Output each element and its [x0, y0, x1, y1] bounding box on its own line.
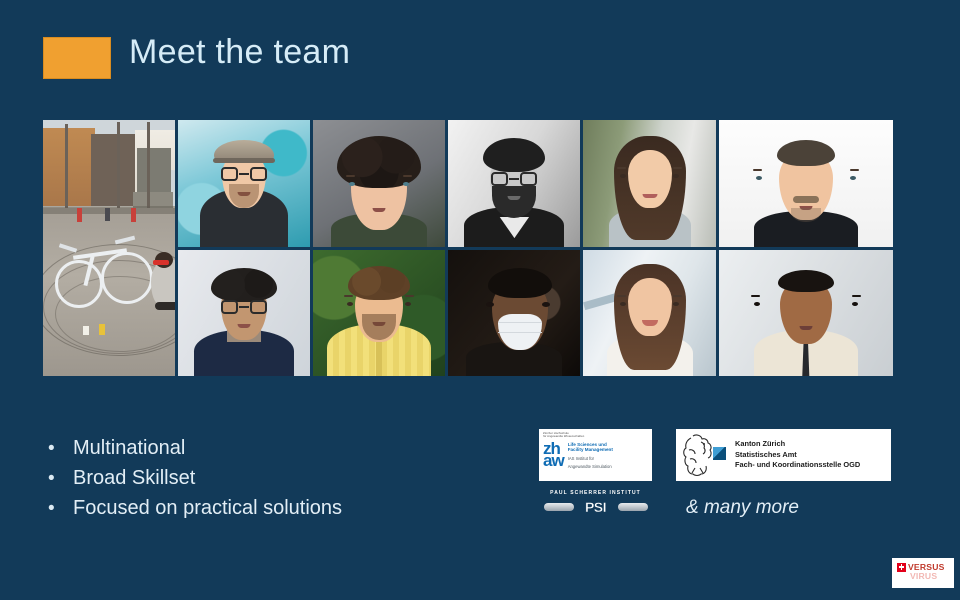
psi-institute-name: PAUL SCHERRER INSTITUT	[539, 487, 652, 496]
kanton-line-1: Kanton Zürich	[735, 439, 860, 450]
slide-canvas: Meet the team	[0, 0, 960, 600]
virus-wordmark: VIRUS	[910, 571, 949, 581]
bullet-marker: •	[43, 434, 73, 463]
psi-logo: PAUL SCHERRER INSTITUT PSI	[539, 487, 652, 521]
team-photo-6	[43, 120, 175, 376]
glasses-icon	[491, 172, 537, 186]
list-item: • Broad Skillset	[43, 464, 483, 494]
bullet-marker: •	[43, 494, 73, 523]
team-photo-1	[178, 120, 310, 247]
zhaw-institute-line-2: Angewandte Simulation	[568, 464, 613, 469]
statistisches-amt-mark	[713, 447, 726, 460]
bullet-marker: •	[43, 464, 73, 493]
psi-bar-right	[618, 503, 648, 511]
team-photo-2	[313, 120, 445, 247]
list-item: • Multinational	[43, 434, 483, 464]
zhaw-dept-line-2: Facility Management	[568, 447, 613, 453]
zurich-lion-icon	[681, 432, 715, 478]
versus-virus-logo: VERSUS VIRUS	[892, 558, 954, 588]
team-photo-11	[719, 250, 893, 377]
team-photo-grid	[43, 120, 893, 376]
title-accent-block	[43, 37, 111, 79]
team-photo-4	[583, 120, 715, 247]
team-photo-8	[313, 250, 445, 377]
list-item: • Focused on practical solutions	[43, 494, 483, 524]
kanton-zurich-logo: Kanton Zürich Statistisches Amt Fach- un…	[676, 429, 891, 481]
team-photo-3	[448, 120, 580, 247]
team-photo-5	[719, 120, 893, 247]
bullet-label: Multinational	[73, 434, 185, 463]
zhaw-logo: Zürcher Hochschule für Angewandte Wissen…	[539, 429, 652, 481]
glasses-icon	[221, 300, 267, 314]
many-more-label: & many more	[686, 497, 799, 519]
kanton-line-2: Statistisches Amt	[735, 450, 860, 461]
kanton-line-3: Fach- und Koordinationsstelle OGD	[735, 460, 860, 471]
swiss-cross-icon	[897, 563, 906, 572]
page-title: Meet the team	[129, 33, 350, 72]
zhaw-wordmark-line-2: aw	[543, 453, 564, 468]
team-photo-9	[448, 250, 580, 377]
psi-wordmark: PSI	[585, 499, 606, 515]
psi-bar-left	[544, 503, 574, 511]
team-photo-10	[583, 250, 715, 377]
zhaw-institute-line-1: IAS Institut für	[568, 456, 613, 461]
bullet-label: Focused on practical solutions	[73, 494, 342, 523]
bullet-label: Broad Skillset	[73, 464, 195, 493]
zhaw-wordmark: zh aw	[543, 441, 564, 468]
glasses-icon	[221, 167, 267, 181]
key-points-list: • Multinational • Broad Skillset • Focus…	[43, 434, 483, 524]
team-photo-7	[178, 250, 310, 377]
